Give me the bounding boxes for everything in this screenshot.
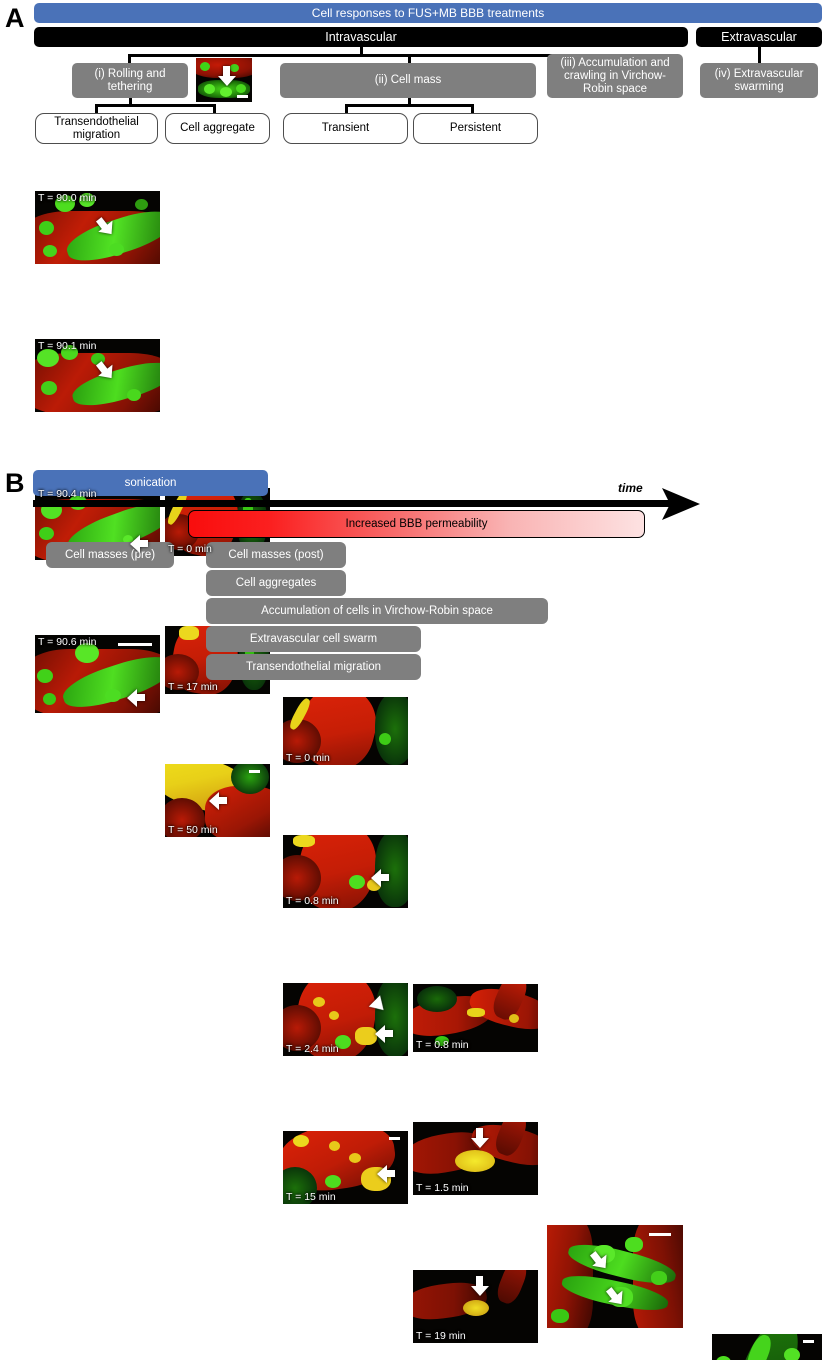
micrograph-transendothelial-2: T = 90.1 min <box>35 339 160 412</box>
frame-timestamp: T = 90.6 min <box>38 636 96 648</box>
event-bar-cell-masses-pre: Cell masses (pre) <box>46 542 174 568</box>
frame-timestamp: T = 90.1 min <box>38 340 96 352</box>
event-bar-transendothelial-migration: Transendothelial migration <box>206 654 421 680</box>
scale-bar <box>249 770 260 773</box>
panel-a-title-bar: Cell responses to FUS+MB BBB treatments <box>34 3 822 23</box>
micrograph-transendothelial-1: T = 90.0 min <box>35 191 160 264</box>
micrograph-virchow-robin <box>547 1225 683 1328</box>
connector-ii-bar <box>345 104 473 107</box>
time-axis-label: time <box>618 481 643 495</box>
connector-drop-cell-aggregate <box>213 104 216 113</box>
frame-timestamp: T = 90.0 min <box>38 192 96 204</box>
frame-timestamp: T = 2.4 min <box>286 1043 339 1055</box>
scale-bar <box>649 1233 671 1236</box>
branch-extravascular: Extravascular <box>696 27 822 47</box>
subcategory-box-transendothelial-migration: Transendothelial migration <box>35 113 158 144</box>
frame-timestamp: T = 0.8 min <box>416 1039 469 1051</box>
micrograph-persistent-1: T = 0.8 min <box>413 984 538 1052</box>
event-bar-cell-aggregates: Cell aggregates <box>206 570 346 596</box>
micrograph-cell-aggregate-3: T = 50 min <box>165 764 270 837</box>
micrograph-transient-1: T = 0 min <box>283 697 408 765</box>
event-bar-extravascular-cell-swarm: Extravascular cell swarm <box>206 626 421 652</box>
frame-timestamp: T = 19 min <box>416 1330 466 1342</box>
micrograph-transient-4: T = 15 min <box>283 1131 408 1204</box>
connector-i-bar <box>95 104 215 107</box>
connector-drop-transient <box>345 104 348 113</box>
panel-a-letter: A <box>5 5 25 32</box>
frame-timestamp: T = 0.8 min <box>286 895 339 907</box>
bbb-permeability-bar: Increased BBB permeability <box>188 510 645 538</box>
category-box-cell-mass: (ii) Cell mass <box>280 63 536 98</box>
subcategory-box-cell-aggregate: Cell aggregate <box>165 113 270 144</box>
subcategory-box-transient: Transient <box>283 113 408 144</box>
branch-intravascular: Intravascular <box>34 27 688 47</box>
micrograph-persistent-2: T = 1.5 min <box>413 1122 538 1195</box>
frame-timestamp: T = 50 min <box>168 824 218 836</box>
frame-timestamp: T = 90.4 min <box>38 488 96 500</box>
event-bar-cell-masses-post: Cell masses (post) <box>206 542 346 568</box>
subcategory-box-persistent: Persistent <box>413 113 538 144</box>
scale-bar <box>237 95 248 98</box>
micrograph-extravascular-swarm <box>712 1334 822 1360</box>
panel-b-letter: B <box>5 470 25 497</box>
micrograph-transendothelial-4: T = 90.6 min <box>35 635 160 713</box>
event-bar-accumulation-virchow-robin: Accumulation of cells in Virchow-Robin s… <box>206 598 548 624</box>
micrograph-rolling-tethering <box>196 58 252 102</box>
connector-extravascular-stem <box>758 47 761 64</box>
micrograph-persistent-3: T = 19 min <box>413 1270 538 1343</box>
time-arrow-icon <box>660 484 702 524</box>
frame-timestamp: T = 1.5 min <box>416 1182 469 1194</box>
scale-bar <box>118 643 152 646</box>
connector-drop-transendothelial <box>95 104 98 113</box>
micrograph-transient-3: T = 2.4 min <box>283 983 408 1056</box>
category-box-rolling-tethering: (i) Rolling and tethering <box>72 63 188 98</box>
frame-timestamp: T = 0 min <box>286 752 330 764</box>
scale-bar <box>803 1340 814 1343</box>
category-box-accumulation-virchow-robin: (iii) Accumulation and crawling in Virch… <box>547 54 683 98</box>
frame-timestamp: T = 15 min <box>286 1191 336 1203</box>
time-axis-line <box>33 500 680 507</box>
micrograph-transient-2: T = 0.8 min <box>283 835 408 908</box>
connector-drop-persistent <box>471 104 474 113</box>
connector-intravascular-bar <box>128 54 617 57</box>
frame-timestamp: T = 0 min <box>168 543 212 555</box>
frame-timestamp: T = 17 min <box>168 681 218 693</box>
scale-bar <box>389 1137 400 1140</box>
category-box-extravascular-swarming: (iv) Extravascular swarming <box>700 63 818 98</box>
